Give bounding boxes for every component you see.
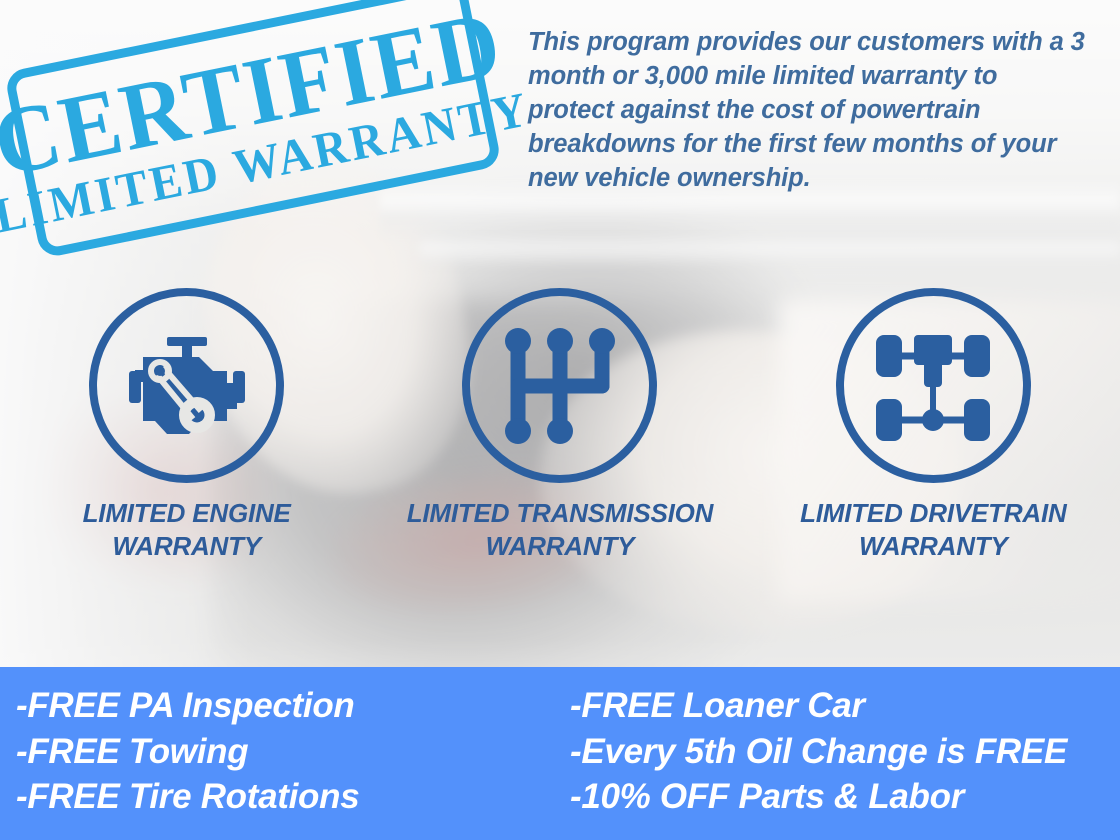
perks-column-left: -FREE PA Inspection -FREE Towing -FREE T…: [0, 667, 560, 840]
gear-shifter-icon: [504, 327, 616, 445]
feature-limited-drivetrain-warranty: LIMITED DRIVETRAIN WARRANTY: [747, 288, 1120, 562]
perk-item: -FREE Loaner Car: [570, 683, 1120, 729]
perk-item: -FREE Towing: [16, 729, 560, 775]
perk-item: -FREE PA Inspection: [16, 683, 560, 729]
feature-label: LIMITED TRANSMISSION WARRANTY: [407, 497, 714, 562]
program-description: This program provides our customers with…: [528, 26, 1088, 196]
engine-icon-circle: [89, 288, 284, 483]
perk-item: -10% OFF Parts & Labor: [570, 774, 1120, 820]
warranty-poster: CERTIFIED LIMITED WARRANTY This program …: [0, 0, 1120, 840]
gear-shifter-icon-circle: [462, 288, 657, 483]
feature-limited-engine-warranty: LIMITED ENGINE WARRANTY: [0, 288, 373, 562]
feature-label: LIMITED DRIVETRAIN WARRANTY: [800, 497, 1067, 562]
perk-item: -Every 5th Oil Change is FREE: [570, 729, 1120, 775]
drivetrain-icon-circle: [836, 288, 1031, 483]
feature-label: LIMITED ENGINE WARRANTY: [83, 497, 291, 562]
perks-banner: -FREE PA Inspection -FREE Towing -FREE T…: [0, 667, 1120, 840]
feature-limited-transmission-warranty: LIMITED TRANSMISSION WARRANTY: [373, 288, 746, 562]
perks-column-right: -FREE Loaner Car -Every 5th Oil Change i…: [560, 667, 1120, 840]
warranty-feature-list: LIMITED ENGINE WARRANTY: [0, 288, 1120, 562]
engine-icon: [127, 331, 247, 441]
perk-item: -FREE Tire Rotations: [16, 774, 560, 820]
drivetrain-icon: [874, 327, 992, 445]
